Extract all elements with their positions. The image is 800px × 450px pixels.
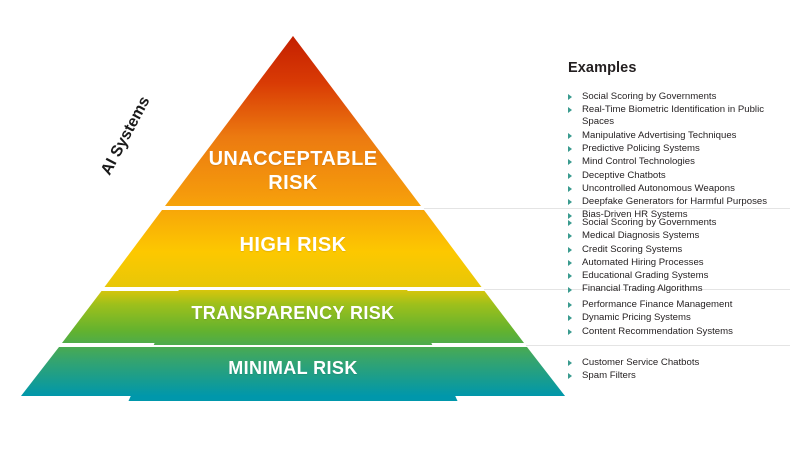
example-item: Performance Finance Management bbox=[568, 299, 798, 311]
example-item: Credit Scoring Systems bbox=[568, 244, 798, 256]
triangle-right-icon bbox=[568, 287, 572, 293]
triangle-right-icon bbox=[568, 186, 572, 192]
example-item-label: Financial Trading Algorithms bbox=[582, 283, 703, 294]
example-item: Real-Time Biometric Identification in Pu… bbox=[568, 104, 798, 128]
example-item-label: Uncontrolled Autonomous Weapons bbox=[582, 183, 735, 194]
triangle-right-icon bbox=[568, 220, 572, 226]
example-list-high: Social Scoring by GovernmentsMedical Dia… bbox=[568, 217, 798, 296]
pyramid-infographic: UNACCEPTABLE RISK HIGH RISK TRANSPARENCY… bbox=[0, 0, 800, 450]
example-item-label: Deceptive Chatbots bbox=[582, 170, 666, 181]
triangle-right-icon bbox=[568, 360, 572, 366]
example-item: Medical Diagnosis Systems bbox=[568, 230, 798, 242]
example-item: Predictive Policing Systems bbox=[568, 143, 798, 155]
example-item-label: Deepfake Generators for Harmful Purposes bbox=[582, 196, 767, 207]
triangle-right-icon bbox=[568, 133, 572, 139]
tier-true-unacceptable bbox=[165, 36, 421, 206]
triangle-right-icon bbox=[568, 315, 572, 321]
examples-title: Examples bbox=[568, 60, 796, 76]
example-group-high: Social Scoring by GovernmentsMedical Dia… bbox=[568, 217, 798, 297]
pyramid-true-geometry bbox=[21, 36, 565, 396]
triangle-right-icon bbox=[568, 173, 572, 179]
example-item-label: Medical Diagnosis Systems bbox=[582, 230, 699, 241]
example-item: Financial Trading Algorithms bbox=[568, 283, 798, 295]
example-list-unacceptable: Social Scoring by GovernmentsReal-Time B… bbox=[568, 91, 798, 221]
example-group-unacceptable: Social Scoring by GovernmentsReal-Time B… bbox=[568, 91, 798, 223]
triangle-right-icon bbox=[568, 273, 572, 279]
triangle-right-icon bbox=[568, 260, 572, 266]
example-item-label: Social Scoring by Governments bbox=[582, 91, 716, 102]
triangle-right-icon bbox=[568, 107, 572, 113]
example-item: Manipulative Advertising Techniques bbox=[568, 130, 798, 142]
example-item-label: Real-Time Biometric Identification in Pu… bbox=[582, 104, 764, 127]
example-group-minimal: Customer Service ChatbotsSpam Filters bbox=[568, 357, 798, 384]
tier-true-minimal bbox=[21, 347, 565, 396]
example-item-label: Content Recommendation Systems bbox=[582, 326, 733, 337]
example-item: Customer Service Chatbots bbox=[568, 357, 798, 369]
example-list-transparency: Performance Finance ManagementDynamic Pr… bbox=[568, 299, 798, 338]
example-item: Deepfake Generators for Harmful Purposes bbox=[568, 196, 798, 208]
example-item: Automated Hiring Processes bbox=[568, 257, 798, 269]
triangle-right-icon bbox=[568, 329, 572, 335]
triangle-right-icon bbox=[568, 247, 572, 253]
example-item-label: Educational Grading Systems bbox=[582, 270, 708, 281]
example-item: Social Scoring by Governments bbox=[568, 217, 798, 229]
example-item: Spam Filters bbox=[568, 370, 798, 382]
example-item: Content Recommendation Systems bbox=[568, 326, 798, 338]
example-item-label: Customer Service Chatbots bbox=[582, 357, 699, 368]
triangle-right-icon bbox=[568, 233, 572, 239]
example-item-label: Credit Scoring Systems bbox=[582, 244, 682, 255]
example-item: Mind Control Technologies bbox=[568, 156, 798, 168]
example-item: Educational Grading Systems bbox=[568, 270, 798, 282]
tier-true-transparency bbox=[62, 291, 524, 343]
example-item: Uncontrolled Autonomous Weapons bbox=[568, 183, 798, 195]
triangle-right-icon bbox=[568, 373, 572, 379]
triangle-right-icon bbox=[568, 199, 572, 205]
triangle-right-icon bbox=[568, 94, 572, 100]
example-item-label: Performance Finance Management bbox=[582, 299, 732, 310]
example-group-transparency: Performance Finance ManagementDynamic Pr… bbox=[568, 299, 798, 339]
example-item: Deceptive Chatbots bbox=[568, 170, 798, 182]
example-item: Dynamic Pricing Systems bbox=[568, 312, 798, 324]
example-item-label: Dynamic Pricing Systems bbox=[582, 312, 691, 323]
triangle-right-icon bbox=[568, 146, 572, 152]
triangle-right-icon bbox=[568, 302, 572, 308]
example-item-label: Manipulative Advertising Techniques bbox=[582, 130, 736, 141]
examples-panel: Examples bbox=[568, 60, 796, 87]
triangle-right-icon bbox=[568, 159, 572, 165]
example-list-minimal: Customer Service ChatbotsSpam Filters bbox=[568, 357, 798, 382]
example-item-label: Social Scoring by Governments bbox=[582, 217, 716, 228]
example-item-label: Spam Filters bbox=[582, 370, 636, 381]
example-item: Social Scoring by Governments bbox=[568, 91, 798, 103]
tier-true-high bbox=[105, 210, 482, 287]
example-item-label: Predictive Policing Systems bbox=[582, 143, 700, 154]
example-item-label: Automated Hiring Processes bbox=[582, 257, 704, 268]
example-item-label: Mind Control Technologies bbox=[582, 156, 695, 167]
